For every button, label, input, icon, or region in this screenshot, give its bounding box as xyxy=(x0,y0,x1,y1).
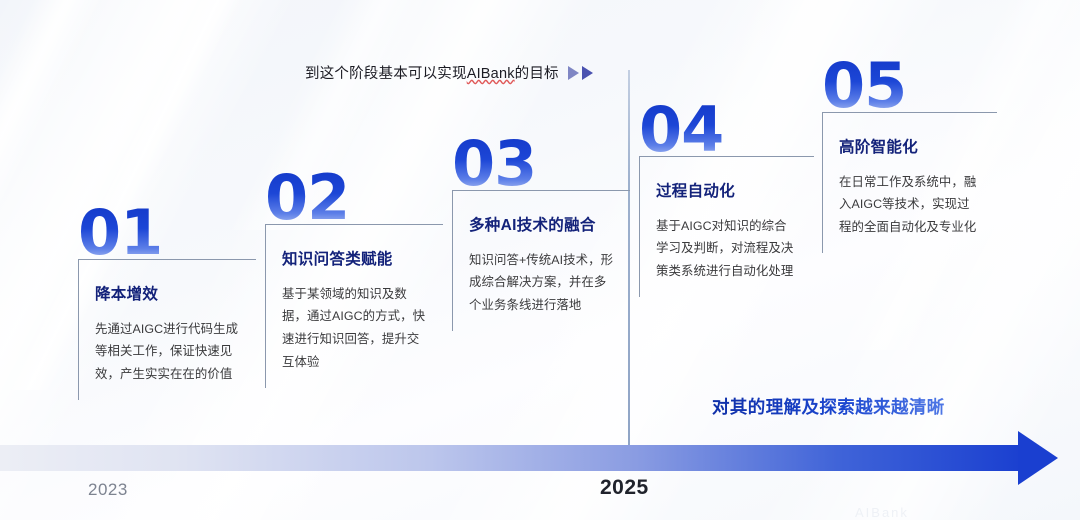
stage-title-03: 多种AI技术的融合 xyxy=(469,213,614,235)
annotation-suffix: 的目标 xyxy=(515,66,559,82)
watermark: AIBank xyxy=(855,505,909,520)
chevron-right-icon xyxy=(582,66,593,80)
stage-number-03: 03 xyxy=(452,134,630,194)
stage-body-05: 在日常工作及系统中，融入AIGC等技术，实现过程的全面自动化及专业化 xyxy=(839,171,981,240)
top-annotation: 到这个阶段基本可以实现AIBank的目标 xyxy=(305,62,593,83)
stage-card-02[interactable]: 知识问答类赋能 基于某领域的知识及数据，通过AIGC的方式，快速进行知识回答，提… xyxy=(265,224,443,389)
stage-title-04: 过程自动化 xyxy=(656,179,798,201)
annotation-text: 到这个阶段基本可以实现AIBank的目标 xyxy=(305,62,559,83)
closing-note: 对其的理解及探索越来越清晰 xyxy=(712,394,945,419)
stage-column-04: 04 过程自动化 基于AIGC对知识的综合学习及判断，对流程及决策类系统进行自动… xyxy=(639,100,814,297)
stage-card-01[interactable]: 降本增效 先通过AIGC进行代码生成等相关工作，保证快速见效，产生实实在在的价值 xyxy=(78,259,256,401)
stage-number-04: 04 xyxy=(639,100,814,160)
stage-column-01: 01 降本增效 先通过AIGC进行代码生成等相关工作，保证快速见效，产生实实在在… xyxy=(78,203,256,400)
stage-title-05: 高阶智能化 xyxy=(839,135,981,157)
stage-body-04: 基于AIGC对知识的综合学习及判断，对流程及决策类系统进行自动化处理 xyxy=(656,215,798,284)
stage-title-02: 知识问答类赋能 xyxy=(282,247,427,269)
timeline-year-start: 2023 xyxy=(88,480,128,500)
annotation-prefix: 到这个阶段基本可以实现 xyxy=(305,66,467,82)
stage-number-05: 05 xyxy=(822,56,997,116)
stage-card-05[interactable]: 高阶智能化 在日常工作及系统中，融入AIGC等技术，实现过程的全面自动化及专业化 xyxy=(822,112,997,254)
timeline-year-end: 2025 xyxy=(600,476,649,500)
infographic-canvas: 到这个阶段基本可以实现AIBank的目标 01 降本增效 先通过AIGC进行代码… xyxy=(0,0,1080,520)
stage-number-01: 01 xyxy=(78,203,256,263)
right-arrow-icon xyxy=(1018,431,1058,485)
stage-body-01: 先通过AIGC进行代码生成等相关工作，保证快速见效，产生实实在在的价值 xyxy=(95,318,240,387)
stage-body-02: 基于某领域的知识及数据，通过AIGC的方式，快速进行知识回答，提升交互体验 xyxy=(282,283,427,375)
stage-title-01: 降本增效 xyxy=(95,282,240,304)
stage-number-02: 02 xyxy=(265,168,443,228)
stage-body-03: 知识问答+传统AI技术，形成综合解决方案，并在多个业务条线进行落地 xyxy=(469,249,614,318)
stage-column-02: 02 知识问答类赋能 基于某领域的知识及数据，通过AIGC的方式，快速进行知识回… xyxy=(265,168,443,388)
timeline-bar xyxy=(0,445,1025,471)
annotation-highlight: AIBank xyxy=(467,66,515,82)
double-chevron-right-icon xyxy=(568,66,593,80)
chevron-right-icon xyxy=(568,66,579,80)
stage-card-04[interactable]: 过程自动化 基于AIGC对知识的综合学习及判断，对流程及决策类系统进行自动化处理 xyxy=(639,156,814,298)
stage-column-03: 03 多种AI技术的融合 知识问答+传统AI技术，形成综合解决方案，并在多个业务… xyxy=(452,134,630,331)
stage-card-03[interactable]: 多种AI技术的融合 知识问答+传统AI技术，形成综合解决方案，并在多个业务条线进… xyxy=(452,190,630,332)
stage-column-05: 05 高阶智能化 在日常工作及系统中，融入AIGC等技术，实现过程的全面自动化及… xyxy=(822,56,997,253)
